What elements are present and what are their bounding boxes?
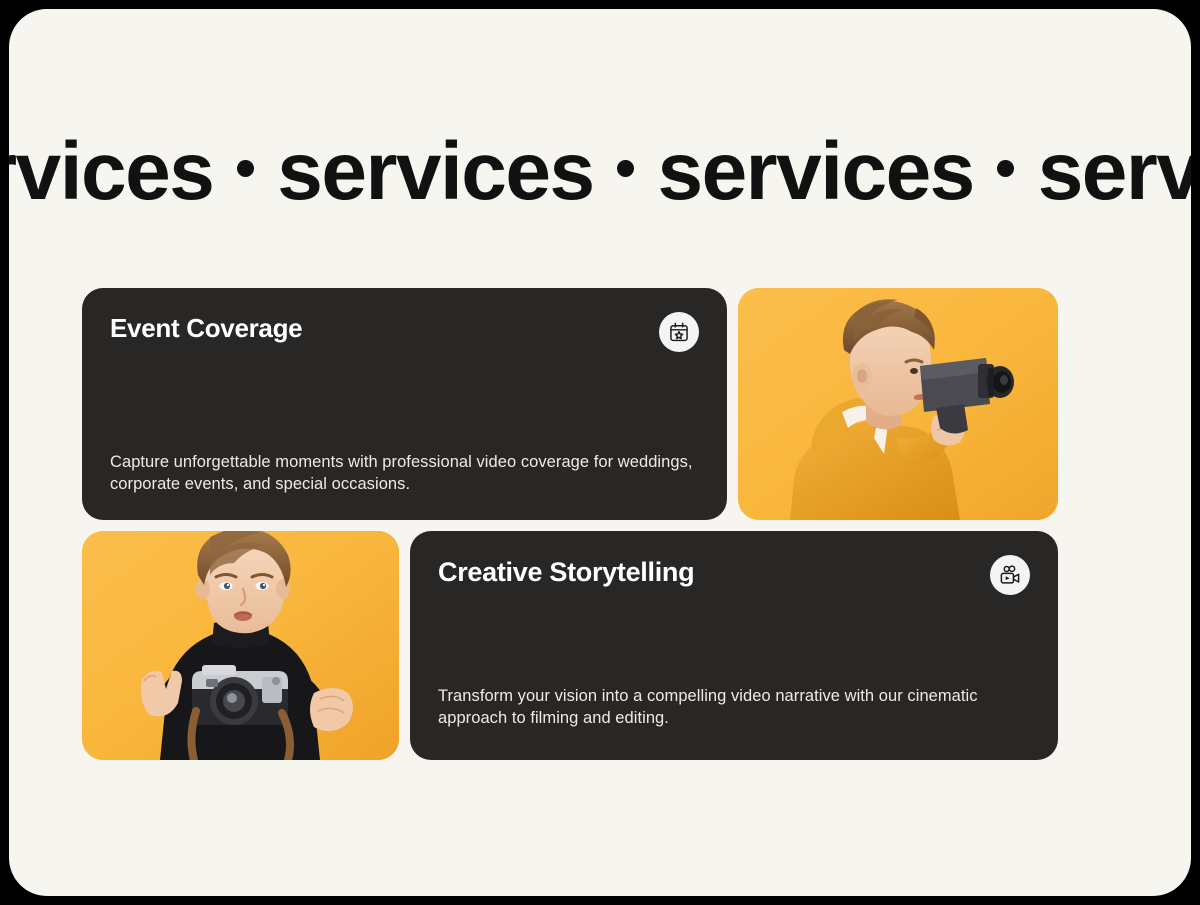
service-row-event-coverage: Event Coverage Capture unforgettable m — [82, 288, 1058, 520]
marquee-word-4: services — [1038, 126, 1191, 217]
photo-person-offering-camera — [82, 531, 399, 760]
marquee-dot-1 — [237, 160, 254, 177]
card-header: Event Coverage — [110, 314, 699, 352]
marquee-dot-2 — [617, 160, 634, 177]
marquee-track: services services services services — [9, 122, 1191, 222]
service-card-event-coverage[interactable]: Event Coverage Capture unforgettable m — [82, 288, 727, 520]
video-camera-icon[interactable] — [990, 555, 1030, 595]
card-header: Creative Storytelling — [438, 557, 1030, 595]
marquee-word-3: services — [657, 126, 973, 217]
service-title: Creative Storytelling — [438, 557, 694, 588]
device-frame: services services services services Even… — [0, 0, 1200, 905]
marquee-dot-3 — [997, 160, 1014, 177]
service-description: Capture unforgettable moments with profe… — [110, 451, 699, 496]
service-description: Transform your vision into a compelling … — [438, 685, 1030, 730]
photo-person-with-film-camera — [738, 288, 1058, 520]
page-viewport: services services services services Even… — [9, 9, 1191, 896]
marquee-word-2: services — [277, 126, 593, 217]
service-card-creative-storytelling[interactable]: Creative Storytelling Transform your v — [410, 531, 1058, 760]
service-row-creative-storytelling: Creative Storytelling Transform your v — [82, 531, 1058, 760]
services-marquee: services services services services — [9, 122, 1191, 222]
marquee-word-1: services — [9, 126, 213, 217]
service-title: Event Coverage — [110, 314, 302, 344]
services-grid: Event Coverage Capture unforgettable m — [82, 288, 1058, 771]
calendar-star-icon[interactable] — [659, 312, 699, 352]
